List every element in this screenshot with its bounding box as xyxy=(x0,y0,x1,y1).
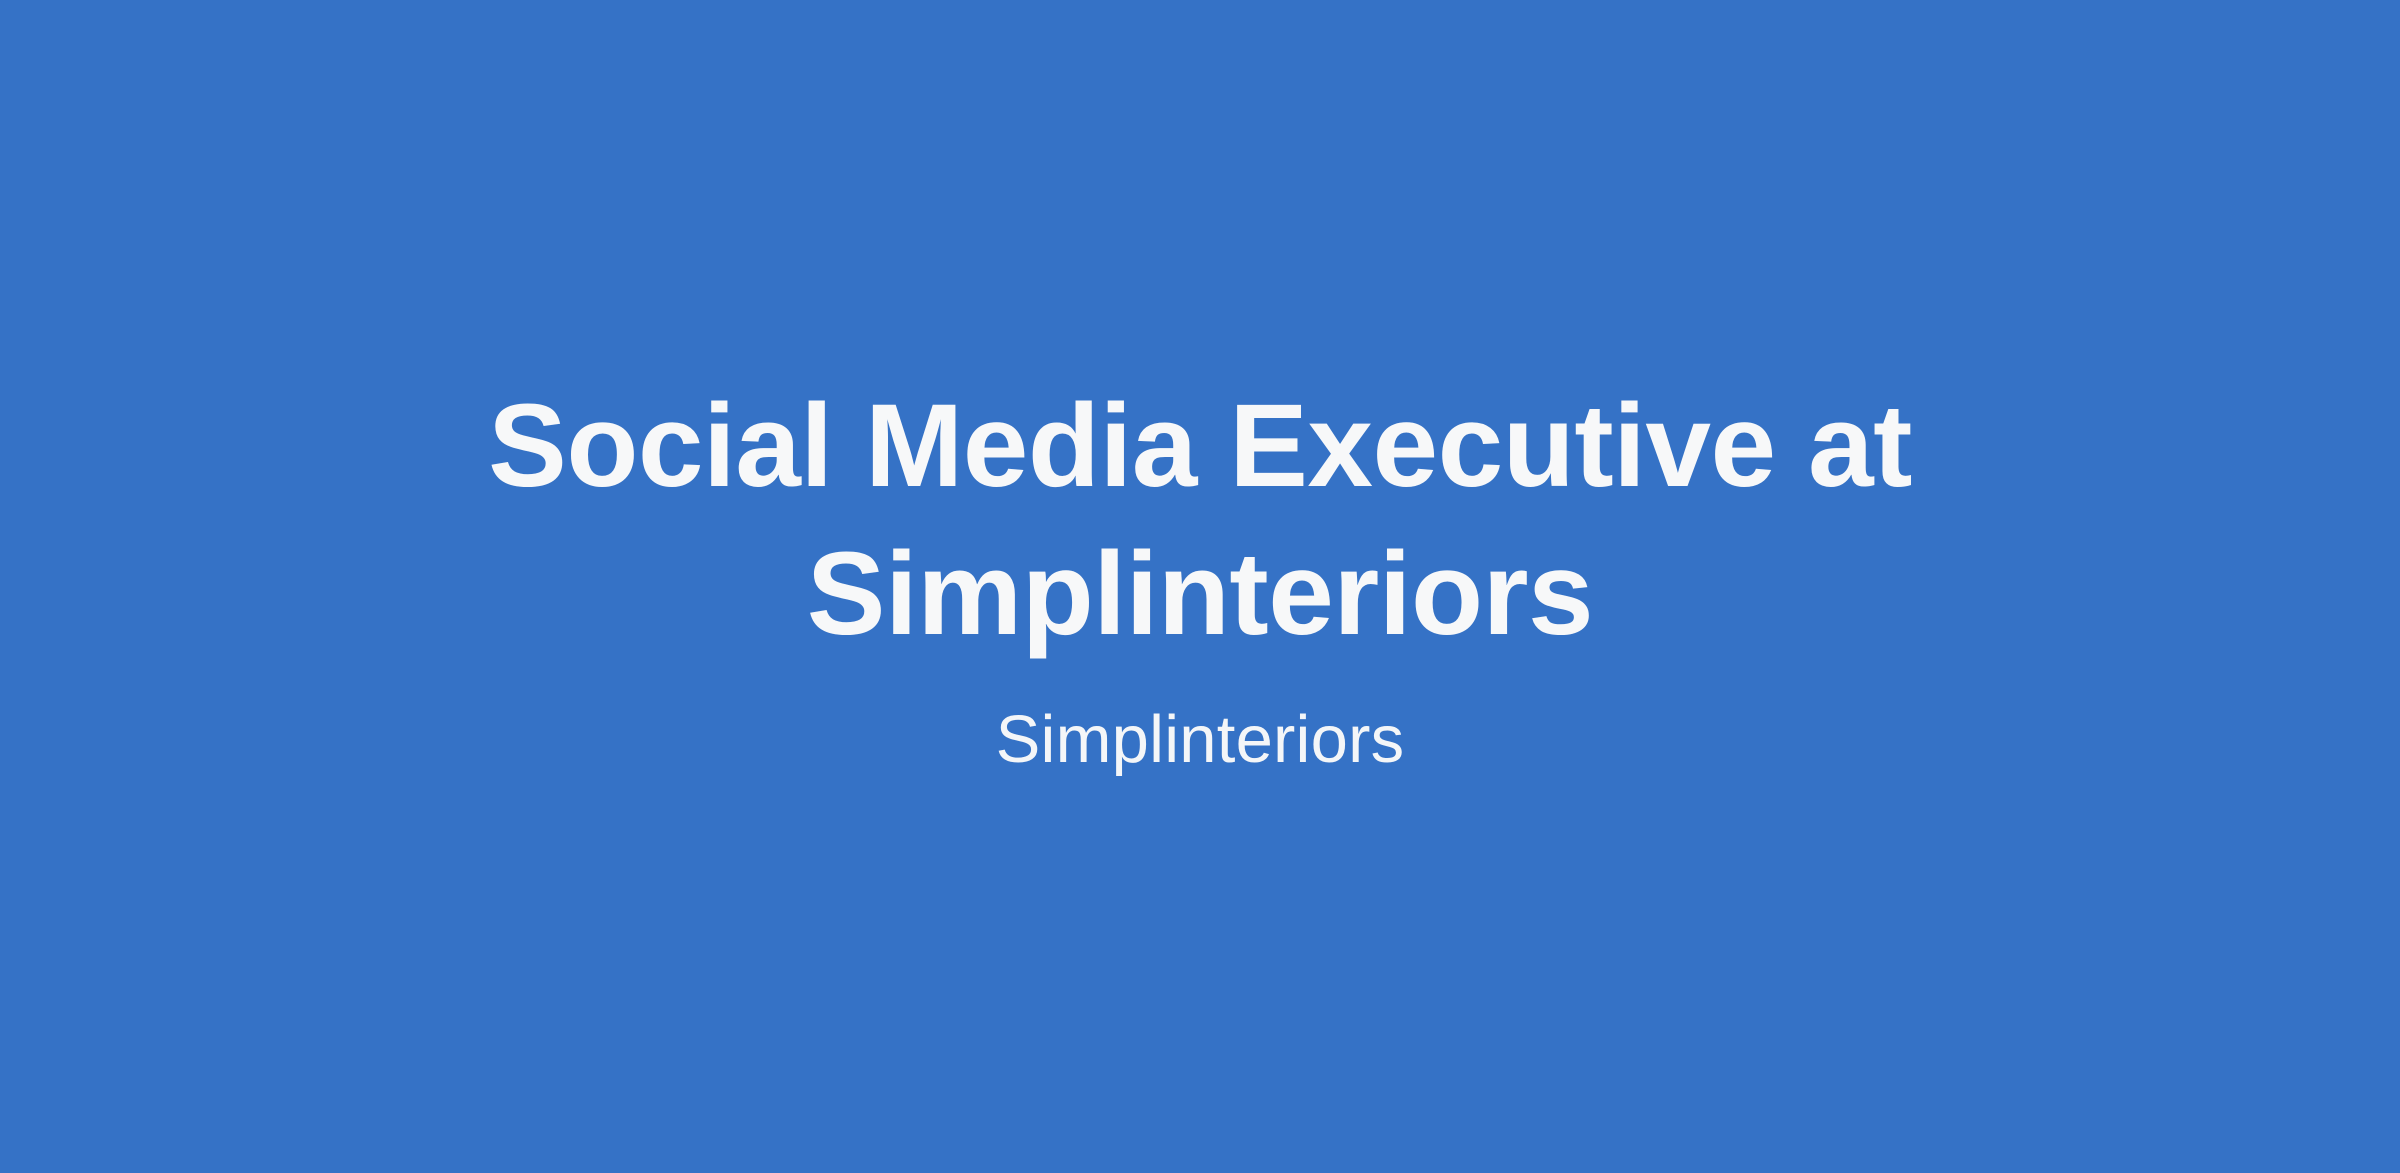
card-content: Social Media Executive at Simplinteriors… xyxy=(0,372,2400,780)
company-subtitle: Simplinteriors xyxy=(996,700,1405,780)
share-card: Social Media Executive at Simplinteriors… xyxy=(0,0,2400,1173)
page-title: Social Media Executive at Simplinteriors xyxy=(460,372,1940,668)
